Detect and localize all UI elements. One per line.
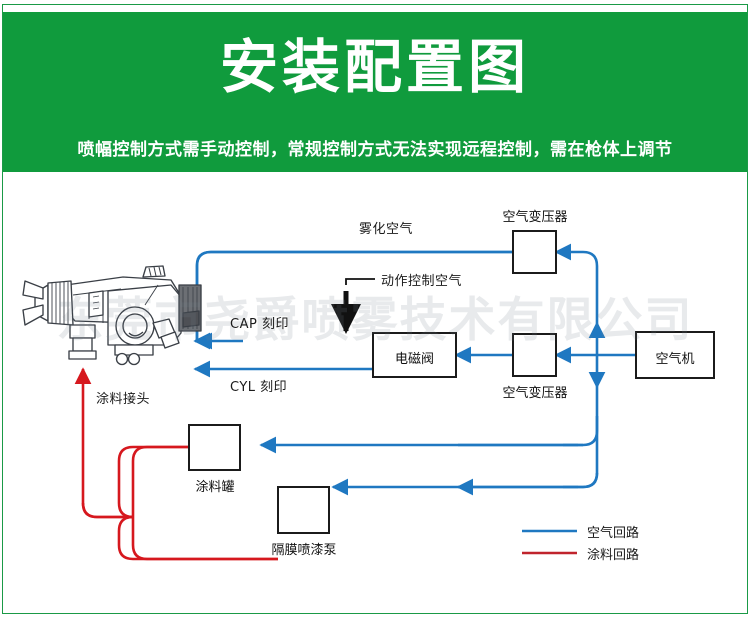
page-subtitle: 喷幅控制方式需手动控制，常规控制方式无法实现远程控制，需在枪体上调节 [3,135,747,160]
label-air-compressor: 空气机 [636,348,714,367]
box-air-transformer-top [513,231,556,273]
action-control-air-arrow [346,279,375,331]
label-air-transformer-bottom: 空气变压器 [489,382,581,401]
label-cyl-mark: CYL 刻印 [230,376,287,395]
label-solenoid-valve: 电磁阀 [373,348,456,367]
legend-swatches [522,531,577,553]
header-banner: 安装配置图 喷幅控制方式需手动控制，常规控制方式无法实现远程控制，需在枪体上调节 [3,12,747,172]
label-cap-mark: CAP 刻印 [230,313,289,332]
air-feed-paint-devices [261,445,583,487]
label-air-transformer-top: 空气变压器 [489,206,581,225]
installation-diagram-page: 安装配置图 喷幅控制方式需手动控制，常规控制方式无法实现远程控制，需在枪体上调节… [0,0,750,618]
box-diaphragm-pump [278,487,329,533]
paint-circuit-main [83,447,278,559]
diagram-canvas: 东莞市尧爵喷雾技术有限公司 [3,173,747,610]
page-title: 安装配置图 [3,38,747,96]
legend-label-paint-circuit: 涂料回路 [587,544,639,563]
air-to-paint-equipment [583,445,597,487]
label-action-control-air: 动作控制空气 [381,270,462,289]
label-diaphragm-pump: 隔膜喷漆泵 [268,539,340,558]
label-paint-connector: 涂料接头 [96,388,150,407]
legend-label-air-circuit: 空气回路 [587,522,639,541]
box-air-transformer-bottom [513,334,556,376]
box-paint-tank [189,425,240,470]
label-atomizing-air: 雾化空气 [359,218,413,237]
label-paint-tank: 涂料罐 [177,476,253,495]
spray-gun-illustration [23,266,201,365]
